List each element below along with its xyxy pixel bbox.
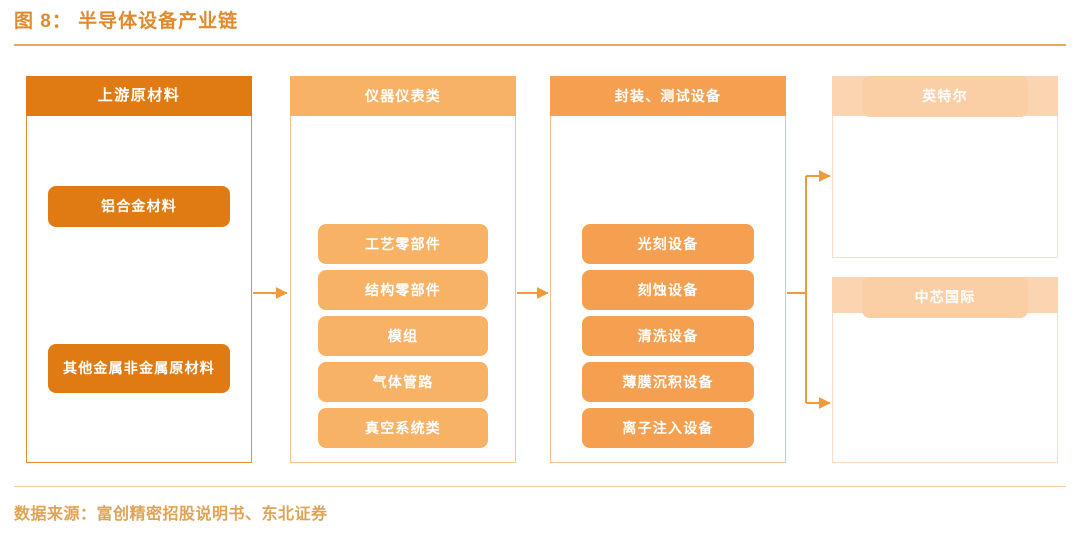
stage-semiconductor-equipment: 半导体设备 光刻设备 刻蚀设备 清洗设备 薄膜沉积设备 离子注入设备 机械抛光设…: [550, 76, 786, 463]
node-structural-components[interactable]: 结构零部件: [318, 270, 488, 310]
page-title: 图 8： 半导体设备产业链: [14, 6, 238, 33]
stage-body-foundry-osat: [832, 313, 1058, 463]
node-etching-equipment[interactable]: 刻蚀设备: [582, 270, 754, 310]
node-cleaning-equipment[interactable]: 清洗设备: [582, 316, 754, 356]
node-ion-implantation-equipment[interactable]: 离子注入设备: [582, 408, 754, 448]
title-divider: [14, 44, 1066, 46]
node-vacuum-systems[interactable]: 真空系统类: [318, 408, 488, 448]
node-lithography-equipment[interactable]: 光刻设备: [582, 224, 754, 264]
node-packaging-test-equipment[interactable]: 封装、测试设备: [582, 76, 754, 116]
node-thin-film-deposition-equipment[interactable]: 薄膜沉积设备: [582, 362, 754, 402]
stage-equipment-components: 半导体设备零部件 工艺零部件 结构零部件 模组 气体管路 真空系统类 传感器类 …: [290, 76, 516, 463]
footer-divider: [14, 486, 1066, 487]
figure-canvas: 图 8： 半导体设备产业链 上游原材料 铝合金材料 其他金属非金属原材料 半导体…: [0, 0, 1080, 533]
source-note: 数据来源：富创精密招股说明书、东北证券: [14, 500, 328, 524]
stage-body-idm-customers: [832, 116, 1058, 258]
node-other-metal-nonmetal-materials[interactable]: 其他金属非金属原材料: [48, 344, 230, 393]
node-modules[interactable]: 模组: [318, 316, 488, 356]
stage-header-upstream: 上游原材料: [26, 76, 252, 116]
node-process-components[interactable]: 工艺零部件: [318, 224, 488, 264]
stage-upstream-raw-materials: 上游原材料 铝合金材料 其他金属非金属原材料: [26, 76, 252, 463]
stage-foundry-and-osat: 晶圆制造和封装测试 台积电 中芯国际: [832, 277, 1058, 463]
node-gas-piping[interactable]: 气体管路: [318, 362, 488, 402]
node-intel[interactable]: 英特尔: [862, 76, 1028, 117]
node-instrumentation[interactable]: 仪器仪表类: [318, 76, 488, 116]
node-smic[interactable]: 中芯国际: [862, 277, 1028, 318]
node-aluminum-alloy-material[interactable]: 铝合金材料: [48, 186, 230, 227]
stage-body-upstream: [26, 116, 252, 463]
stage-idm-customers: IDM客户 三星 英特尔: [832, 76, 1058, 258]
